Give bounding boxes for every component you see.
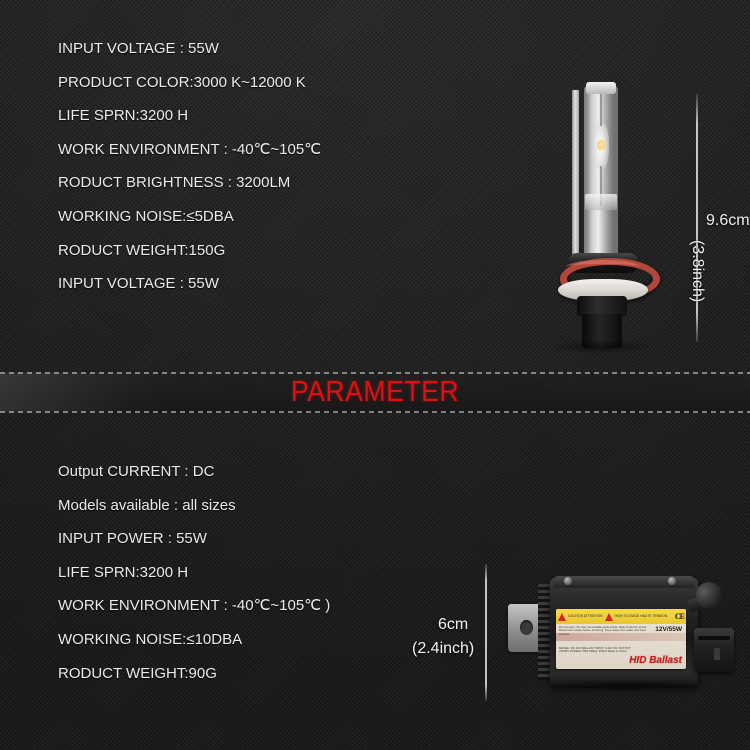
bulb-spec-section: INPUT VOLTAGE : 55W PRODUCT COLOR:3000 K… bbox=[0, 0, 750, 372]
bulb-oring-highlight bbox=[566, 260, 640, 274]
label-caution-text: CAUTION ATTENTION bbox=[568, 615, 603, 619]
ballast-warning-strip: CAUTION ATTENTION HIGH VOLTAGE HAUTE TEN… bbox=[556, 609, 686, 624]
label-brand-text: HID Ballast bbox=[629, 655, 682, 666]
ballast-screw-right bbox=[668, 577, 676, 585]
spec-line: LIFE SPRN:3200 H bbox=[58, 99, 321, 133]
product-spec-page: INPUT VOLTAGE : 55W PRODUCT COLOR:3000 K… bbox=[0, 0, 750, 750]
label-fine-print-1: Do not open. No user serviceable parts i… bbox=[559, 626, 654, 636]
bulb-spec-list: INPUT VOLTAGE : 55W PRODUCT COLOR:3000 K… bbox=[58, 32, 321, 301]
ballast-label: CAUTION ATTENTION HIGH VOLTAGE HAUTE TEN… bbox=[556, 609, 686, 669]
bulb-drop-shadow bbox=[548, 340, 658, 354]
warning-triangle-icon bbox=[605, 613, 613, 621]
spec-line: RODUCT BRIGHTNESS : 3200LM bbox=[58, 166, 321, 200]
label-voltage-rating: 12V/55W bbox=[655, 626, 682, 633]
spec-line: WORKING NOISE:≤10DBA bbox=[58, 623, 330, 657]
ballast-plug-ridge bbox=[698, 636, 730, 640]
spec-line: WORK ENVIRONMENT : -40℃~105℃ ) bbox=[58, 589, 330, 623]
label-fine-print-2: MODEL: DC 12V BALLAST INPUT: 9-16V DC OU… bbox=[559, 647, 639, 654]
bulb-dimension-cm: 9.6cm bbox=[706, 212, 750, 230]
bulb-dimension-inch: (3.8inch) bbox=[688, 240, 706, 302]
warning-triangle-icon bbox=[558, 613, 566, 621]
spec-line: INPUT VOLTAGE : 55W bbox=[58, 267, 321, 301]
ballast-spec-list: Output CURRENT : DC Models available : a… bbox=[58, 455, 330, 690]
bulb-dimension-line bbox=[696, 94, 698, 342]
parameter-title: PARAMETER bbox=[30, 375, 720, 410]
bulb-base-upper bbox=[577, 296, 627, 316]
spec-line: PRODUCT COLOR:3000 K~12000 K bbox=[58, 66, 321, 100]
ballast-dimension-line bbox=[485, 564, 487, 701]
spec-line: RODUCT WEIGHT:150G bbox=[58, 234, 321, 268]
spec-line: RODUCT WEIGHT:90G bbox=[58, 657, 330, 691]
bulb-glass-tip bbox=[586, 82, 616, 94]
spec-line: WORK ENVIRONMENT : -40℃~105℃ bbox=[58, 133, 321, 167]
spec-line: INPUT POWER : 55W bbox=[58, 522, 330, 556]
ballast-bracket-hole bbox=[520, 620, 533, 635]
ballast-dimension-cm: 6cm bbox=[438, 616, 468, 634]
ballast-plug-tab bbox=[714, 648, 720, 660]
spec-line: INPUT VOLTAGE : 55W bbox=[58, 32, 321, 66]
ballast-drop-shadow bbox=[548, 680, 708, 690]
bulb-pinch-seal bbox=[585, 194, 617, 210]
bulb-support-rod bbox=[572, 90, 579, 258]
parameter-banner: PARAMETER bbox=[0, 372, 750, 413]
ce-mark-icon: CE bbox=[675, 612, 684, 621]
spec-line: WORKING NOISE:≤5DBA bbox=[58, 200, 321, 234]
bulb-arc-glow bbox=[597, 138, 605, 152]
label-high-voltage-text: HIGH VOLTAGE HAUTE TENSION bbox=[615, 615, 668, 619]
hid-bulb-image bbox=[552, 86, 650, 348]
ballast-screw-left bbox=[564, 577, 572, 585]
spec-line: Models available : all sizes bbox=[58, 489, 330, 523]
bulb-electrode-top bbox=[600, 94, 602, 126]
ballast-dimension-inch: (2.4inch) bbox=[412, 640, 474, 658]
spec-line: LIFE SPRN:3200 H bbox=[58, 556, 330, 590]
hid-ballast-image: CAUTION ATTENTION HIGH VOLTAGE HAUTE TEN… bbox=[508, 576, 740, 688]
banner-rule-top bbox=[0, 372, 750, 374]
spec-line: Output CURRENT : DC bbox=[58, 455, 330, 489]
